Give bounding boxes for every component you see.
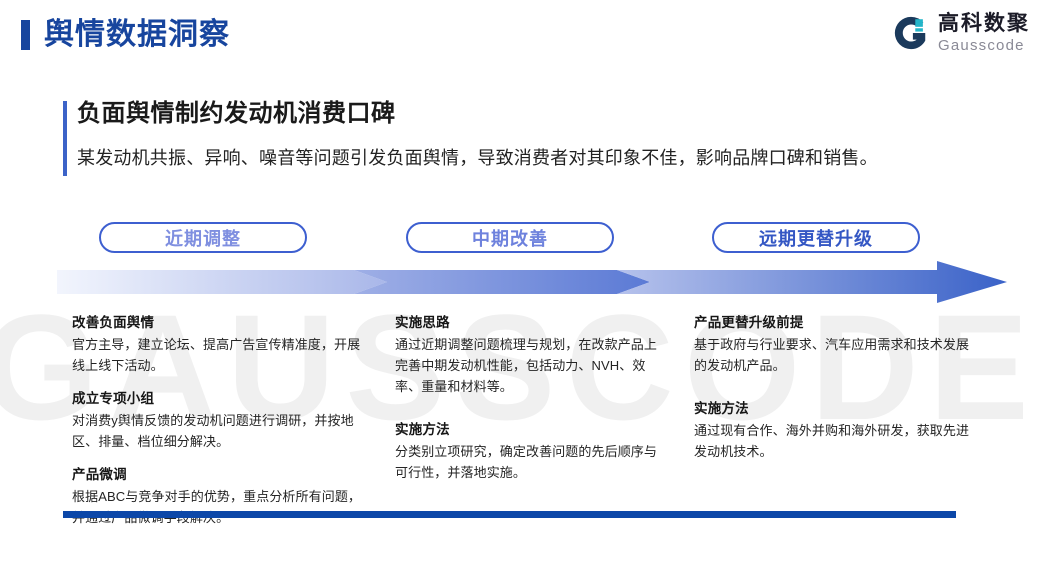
text-block: 产品微调 根据ABC与竞争对手的优势，重点分析所有问题，并通过产品微调手段解决。 (72, 464, 362, 528)
text-block: 产品更替升级前提 基于政府与行业要求、汽车应用需求和技术发展的发动机产品。 (694, 312, 974, 376)
logo-text: 高科数聚 Gausscode (938, 13, 1030, 53)
block-body: 通过近期调整问题梳理与规划，在改款产品上完善中期发动机性能，包括动力、NVH、效… (395, 334, 665, 397)
slide: GAUSSCODE 舆情数据洞察 高科数聚 Gausscode 负面舆情制约发动… (0, 0, 1050, 588)
text-block: 实施思路 通过近期调整问题梳理与规划，在改款产品上完善中期发动机性能，包括动力、… (395, 312, 665, 397)
stage-pill-row: 近期调整 中期改善 远期更替升级 (0, 222, 1050, 256)
block-body: 分类别立项研究，确定改善问题的先后顺序与可行性，并落地实施。 (395, 441, 665, 483)
stage-pill-long-term[interactable]: 远期更替升级 (712, 222, 920, 253)
block-title: 实施方法 (395, 419, 665, 440)
column-long-term: 产品更替升级前提 基于政府与行业要求、汽车应用需求和技术发展的发动机产品。 实施… (694, 312, 974, 474)
block-body: 对消费y舆情反馈的发动机问题进行调研，并按地区、排量、档位细分解决。 (72, 410, 362, 452)
header-accent-bar (21, 20, 30, 50)
block-title: 改善负面舆情 (72, 312, 362, 333)
headline-title: 负面舆情制约发动机消费口碑 (77, 97, 878, 131)
text-block: 成立专项小组 对消费y舆情反馈的发动机问题进行调研，并按地区、排量、档位细分解决… (72, 388, 362, 452)
headline-subtitle: 某发动机共振、异响、噪音等问题引发负面舆情，导致消费者对其印象不佳，影响品牌口碑… (77, 145, 878, 171)
text-block: 改善负面舆情 官方主导，建立论坛、提高广告宣传精准度，开展线上线下活动。 (72, 312, 362, 376)
column-near-term: 改善负面舆情 官方主导，建立论坛、提高广告宣传精准度，开展线上线下活动。 成立专… (72, 312, 362, 540)
block-title: 产品更替升级前提 (694, 312, 974, 333)
timeline-arrow (57, 261, 1007, 308)
page-title: 舆情数据洞察 (44, 16, 230, 54)
stage-pill-near-term[interactable]: 近期调整 (99, 222, 307, 253)
block-body: 官方主导，建立论坛、提高广告宣传精准度，开展线上线下活动。 (72, 334, 362, 376)
block-title: 实施思路 (395, 312, 665, 333)
block-title: 成立专项小组 (72, 388, 362, 409)
headline-accent-rule (63, 101, 67, 176)
slide-header: 舆情数据洞察 高科数聚 Gausscode (0, 0, 1050, 72)
block-body: 通过现有合作、海外并购和海外研发，获取先进发动机技术。 (694, 420, 974, 462)
text-block: 实施方法 分类别立项研究，确定改善问题的先后顺序与可行性，并落地实施。 (395, 419, 665, 483)
logo-name-en: Gausscode (938, 38, 1030, 53)
stage-pill-mid-term[interactable]: 中期改善 (406, 222, 614, 253)
column-mid-term: 实施思路 通过近期调整问题梳理与规划，在改款产品上完善中期发动机性能，包括动力、… (395, 312, 665, 495)
logo-mark-icon (892, 14, 930, 52)
headline-block: 负面舆情制约发动机消费口碑 某发动机共振、异响、噪音等问题引发负面舆情，导致消费… (63, 97, 878, 171)
timeline-arrow-graphic (57, 261, 1007, 303)
brand-logo: 高科数聚 Gausscode (892, 13, 1030, 53)
block-title: 产品微调 (72, 464, 362, 485)
logo-name-cn: 高科数聚 (938, 13, 1030, 34)
block-title: 实施方法 (694, 398, 974, 419)
block-body: 根据ABC与竞争对手的优势，重点分析所有问题，并通过产品微调手段解决。 (72, 486, 362, 528)
text-block: 实施方法 通过现有合作、海外并购和海外研发，获取先进发动机技术。 (694, 398, 974, 462)
block-body: 基于政府与行业要求、汽车应用需求和技术发展的发动机产品。 (694, 334, 974, 376)
footer-rule (63, 511, 956, 518)
